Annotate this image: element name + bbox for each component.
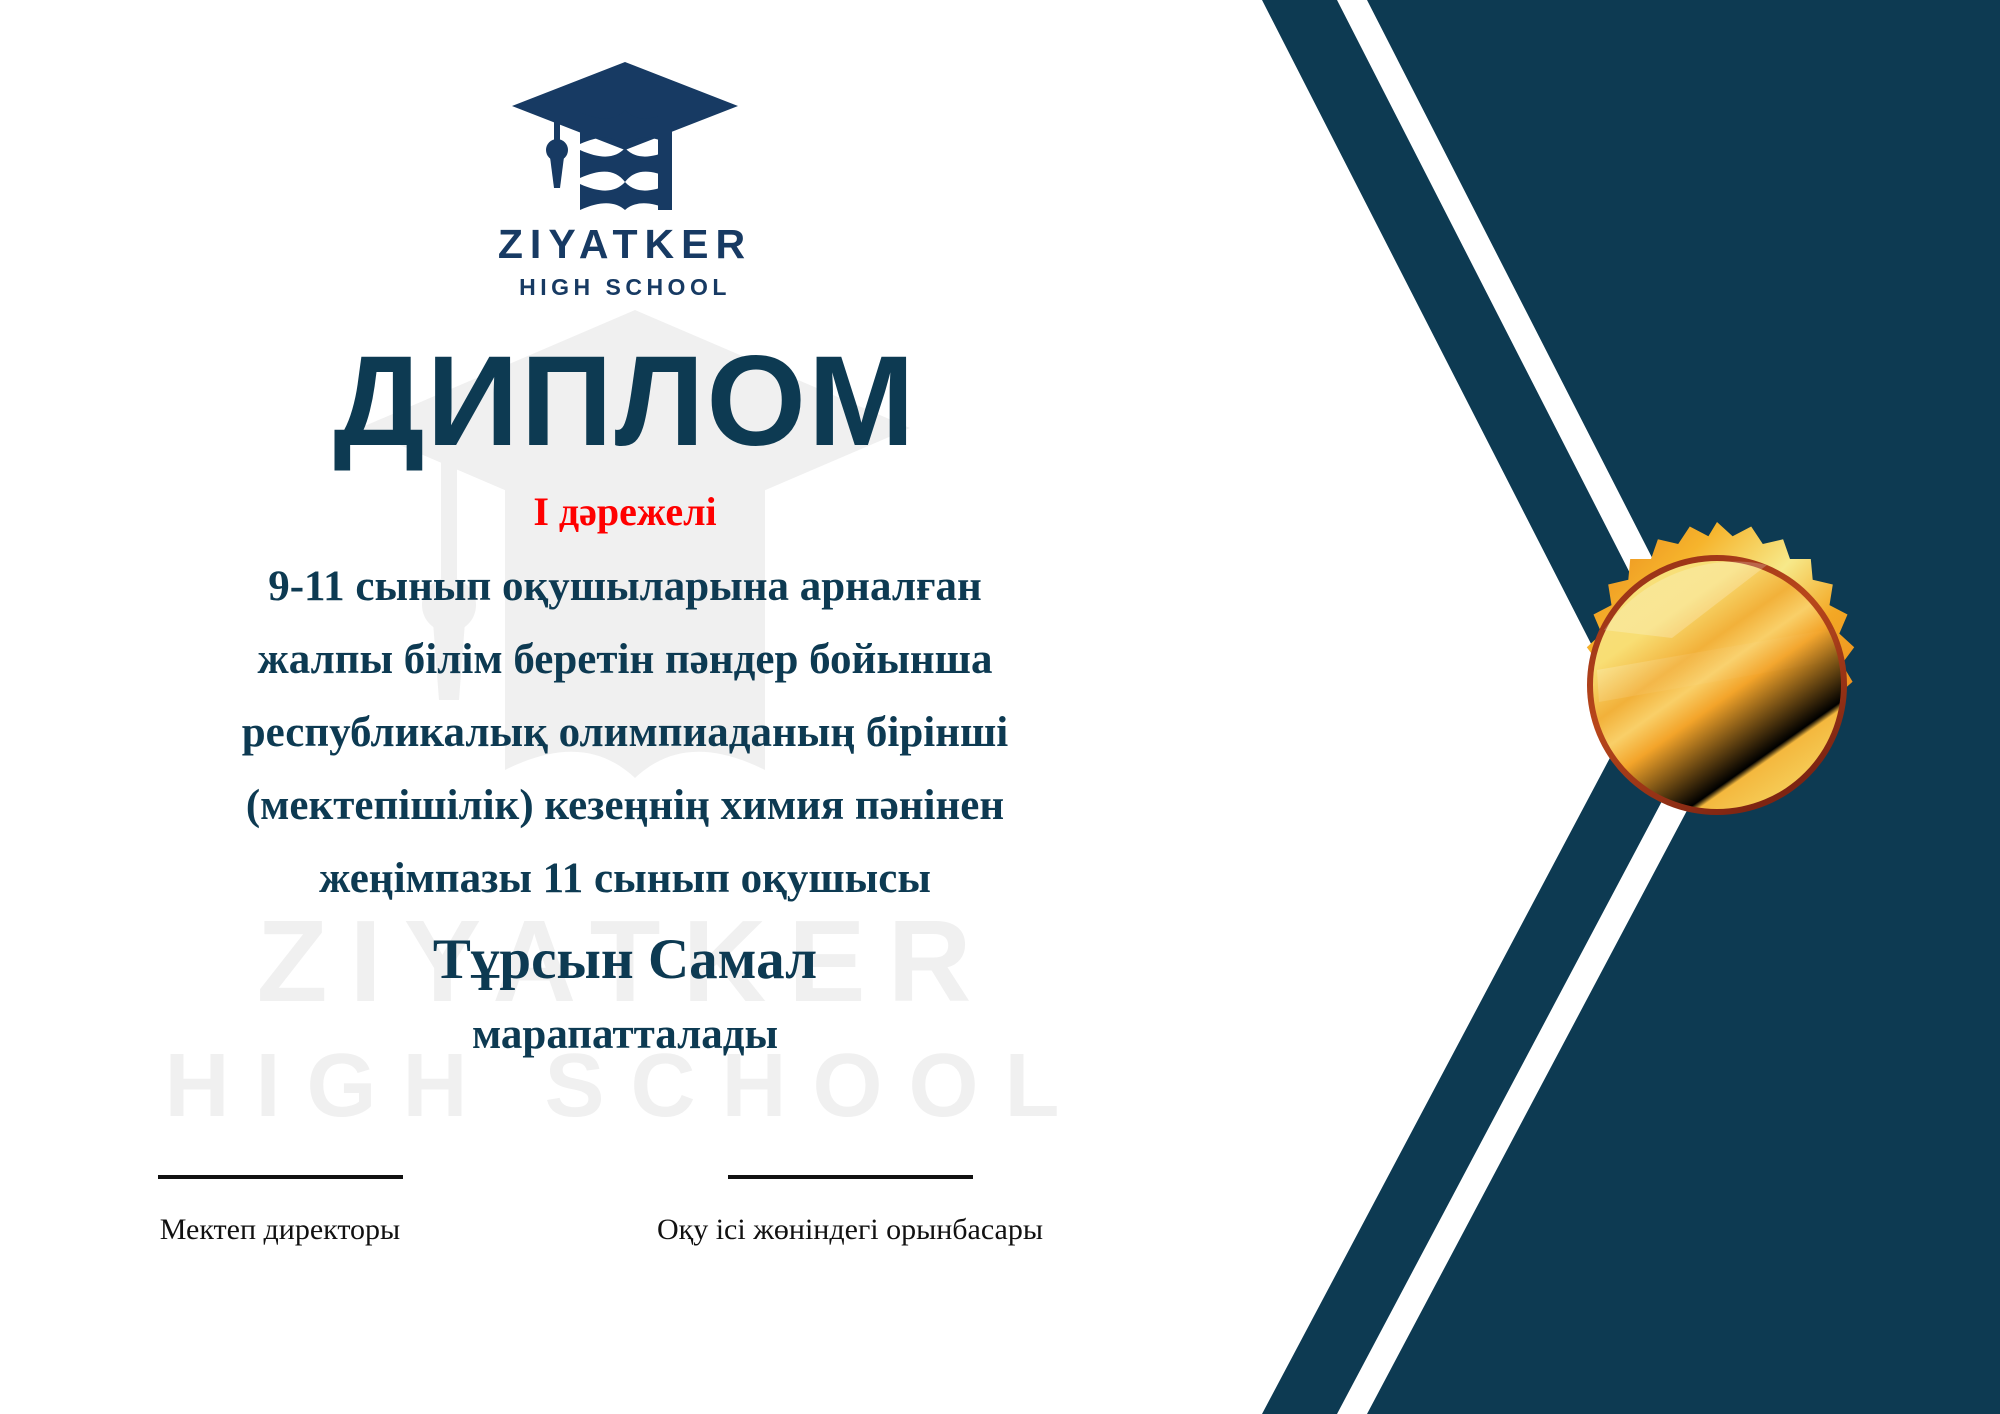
signature-row: Мектеп директоры Оқу ісі жөніндегі орынб… <box>0 1175 1250 1315</box>
body-line: 9-11 сынып оқушыларына арналған <box>0 550 1250 623</box>
signature-block-director: Мектеп директоры <box>60 1175 500 1245</box>
signature-line <box>728 1175 973 1179</box>
degree-label: I дәрежелі <box>0 492 1250 532</box>
certificate-content: ДИПЛОМ I дәрежелі 9-11 сынып оқушыларына… <box>0 0 1250 1414</box>
certificate-title: ДИПЛОМ <box>0 338 1250 466</box>
body-line: жеңімпазы 11 сынып оқушысы <box>0 842 1250 915</box>
certificate-body: 9-11 сынып оқушыларына арналған жалпы бі… <box>0 550 1250 1069</box>
body-line: жалпы білім беретін пәндер бойынша <box>0 623 1250 696</box>
signature-line <box>158 1175 403 1179</box>
signature-label: Оқу ісі жөніндегі орынбасары <box>550 1215 1150 1245</box>
body-line: республикалық олимпиаданың бірінші <box>0 696 1250 769</box>
gold-award-seal-icon <box>1552 520 1882 850</box>
body-line: (мектепішілік) кезеңнің химия пәнінен <box>0 769 1250 842</box>
certificate-page: ZIYATKER HIGH SCHOOL ZIYATKER HIGH SCHOO… <box>0 0 2000 1414</box>
award-verb: марапатталады <box>0 1001 1250 1069</box>
recipient-name: Тұрсын Самал <box>0 919 1250 1001</box>
signature-label: Мектеп директоры <box>60 1215 500 1245</box>
signature-block-deputy: Оқу ісі жөніндегі орынбасары <box>550 1175 1150 1245</box>
